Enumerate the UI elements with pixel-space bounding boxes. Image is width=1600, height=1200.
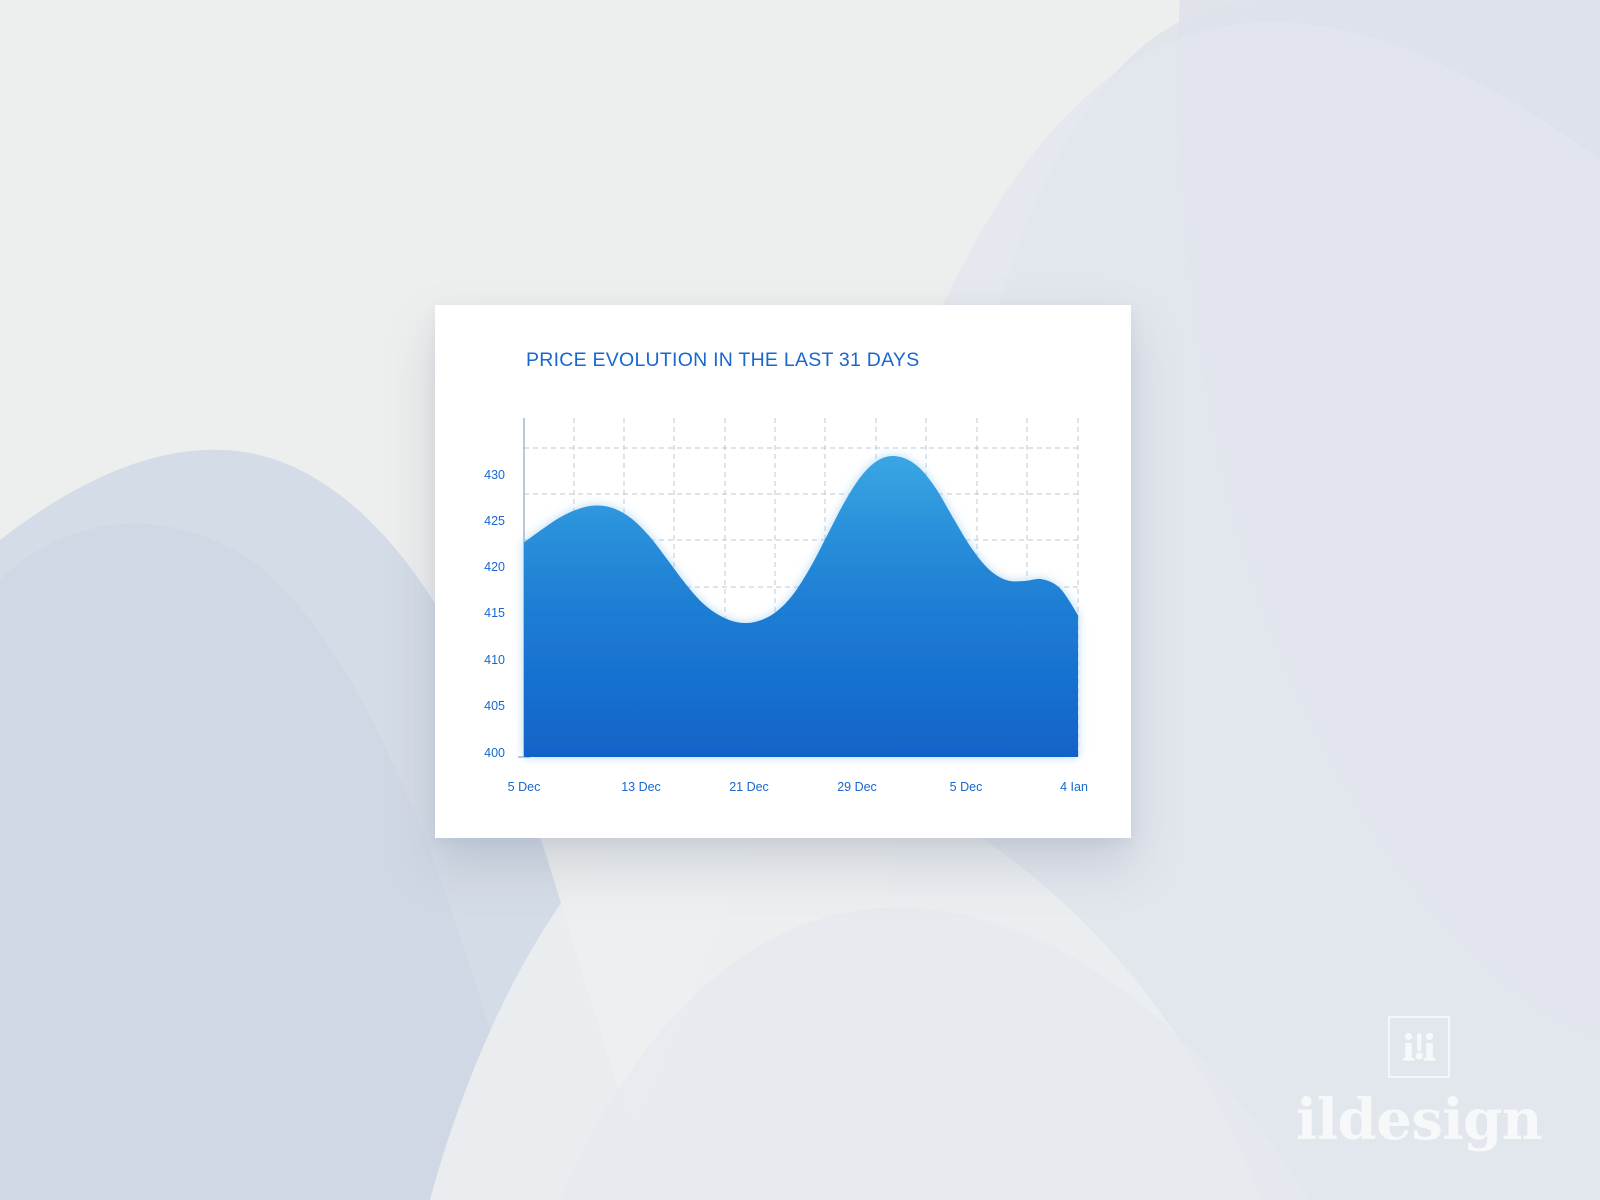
y-axis-tick-label: 400 (469, 746, 505, 760)
y-axis-tick-label: 410 (469, 653, 505, 667)
ildesign-logo-icon (1388, 1016, 1450, 1078)
x-axis-tick-label: 4 Ian (1060, 780, 1088, 794)
brand-watermark: ildesign (1296, 1016, 1542, 1148)
x-axis-tick-label: 5 Dec (508, 780, 541, 794)
x-axis-tick-label: 21 Dec (729, 780, 769, 794)
x-axis-tick-label: 13 Dec (621, 780, 661, 794)
y-axis-tick-label: 420 (469, 560, 505, 574)
x-axis-tick-label: 29 Dec (837, 780, 877, 794)
chart-plot-area[interactable]: 400 405 410 415 420 425 430 5 Dec 13 Dec… (435, 305, 1131, 838)
y-axis-tick-label: 405 (469, 699, 505, 713)
area-chart-svg (435, 305, 1131, 838)
y-axis-tick-label: 425 (469, 514, 505, 528)
brand-name: ildesign (1296, 1092, 1542, 1148)
y-axis-tick-label: 430 (469, 468, 505, 482)
y-axis-tick-label: 415 (469, 606, 505, 620)
price-area-series (524, 456, 1078, 757)
chart-card: PRICE EVOLUTION IN THE LAST 31 DAYS (435, 305, 1131, 838)
x-axis-tick-label: 5 Dec (950, 780, 983, 794)
